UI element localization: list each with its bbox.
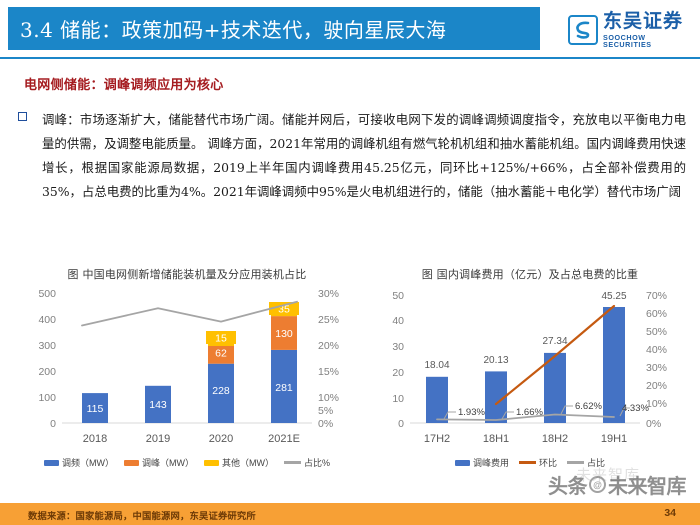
page-title: 3.4 储能：政策加码+技术迭代，驶向星辰大海	[20, 14, 446, 43]
svg-text:30: 30	[392, 341, 404, 353]
chart-title-right: 图 国内调峰费用（亿元）及占总电费的比重	[374, 266, 686, 282]
svg-text:2018: 2018	[83, 433, 107, 445]
svg-text:115: 115	[87, 403, 104, 415]
svg-text:19H1: 19H1	[601, 433, 627, 445]
svg-text:0: 0	[50, 418, 56, 430]
svg-text:20%: 20%	[318, 340, 339, 352]
legend-label: 调峰（MW）	[142, 456, 194, 469]
svg-text:0: 0	[398, 418, 404, 430]
chart-grid-side-storage: 图 中国电网侧新增储能装机量及分应用装机占比 500 400 300 200 1…	[22, 266, 352, 482]
svg-text:281: 281	[275, 382, 293, 394]
svg-text:1.93%: 1.93%	[458, 407, 485, 418]
svg-text:50: 50	[392, 290, 404, 302]
svg-text:200: 200	[38, 366, 56, 378]
svg-text:30%: 30%	[318, 288, 339, 300]
header-divider	[0, 57, 700, 59]
legend-label: 占比%	[304, 456, 330, 469]
body-paragraph: 调峰：市场逐渐扩大，储能替代市场广阔。储能并网后，可接收电网下发的调峰调频调度指…	[42, 108, 686, 204]
svg-text:500: 500	[38, 288, 56, 300]
svg-text:10%: 10%	[318, 392, 339, 404]
legend-label: 其他（MW）	[222, 456, 274, 469]
svg-text:25%: 25%	[318, 314, 339, 326]
svg-text:2019: 2019	[146, 433, 170, 445]
svg-text:2021E: 2021E	[268, 433, 300, 445]
legend-swatch-icon	[455, 460, 470, 466]
svg-text:10%: 10%	[646, 398, 667, 410]
legend-line-icon	[519, 461, 536, 464]
legend-line-icon	[284, 461, 301, 464]
svg-text:18H1: 18H1	[483, 433, 509, 445]
svg-text:0%: 0%	[318, 418, 333, 430]
svg-text:400: 400	[38, 314, 56, 326]
svg-text:60%: 60%	[646, 308, 667, 320]
legend-item-1: 环比	[519, 456, 557, 469]
body-content: 调峰：市场逐渐扩大，储能替代市场广阔。储能并网后，可接收电网下发的调峰调频调度指…	[18, 108, 686, 204]
svg-text:15: 15	[215, 333, 227, 345]
svg-text:30%: 30%	[646, 362, 667, 374]
legend-item-2: 其他（MW）	[204, 456, 274, 469]
data-source-text: 数据来源：国家能源局，中国能源网，东吴证券研究所	[28, 508, 256, 522]
svg-text:18.04: 18.04	[424, 360, 449, 371]
slide-footer: 数据来源：国家能源局，中国能源网，东吴证券研究所 34	[0, 503, 700, 525]
svg-text:10: 10	[392, 393, 404, 405]
svg-text:0%: 0%	[646, 418, 661, 430]
svg-text:1.66%: 1.66%	[516, 407, 543, 418]
svg-text:2020: 2020	[209, 433, 233, 445]
chart-legend-right: 调峰费用 环比 占比	[374, 456, 686, 469]
logo-chinese-name: 东吴证券	[603, 12, 692, 31]
chart-title-left: 图 中国电网侧新增储能装机量及分应用装机占比	[22, 266, 352, 282]
svg-text:20%: 20%	[646, 380, 667, 392]
svg-text:20.13: 20.13	[483, 355, 508, 366]
legend-line-icon	[567, 461, 584, 464]
svg-text:130: 130	[275, 328, 293, 340]
svg-text:100: 100	[38, 392, 56, 404]
legend-item-2: 占比	[567, 456, 605, 469]
svg-text:228: 228	[212, 385, 230, 397]
svg-text:300: 300	[38, 340, 56, 352]
logo-mark-icon	[568, 15, 598, 45]
legend-label: 调频（MW）	[62, 456, 114, 469]
svg-text:6.62%: 6.62%	[575, 401, 602, 412]
page-number: 34	[664, 507, 676, 519]
slide-header: 3.4 储能：政策加码+技术迭代，驶向星辰大海 东吴证券 SOOCHOW SEC…	[0, 0, 700, 62]
legend-item-3: 占比%	[284, 456, 330, 469]
legend-label: 环比	[539, 456, 557, 469]
legend-swatch-icon	[204, 460, 219, 466]
svg-text:62: 62	[215, 348, 227, 360]
svg-text:45.25: 45.25	[601, 291, 626, 302]
svg-text:40: 40	[392, 315, 404, 327]
svg-text:15%: 15%	[318, 366, 339, 378]
section-heading: 电网侧储能：调峰调频应用为核心	[24, 74, 224, 93]
square-bullet-icon	[18, 112, 27, 121]
chart-peak-shaving-cost: 图 国内调峰费用（亿元）及占总电费的比重 50 40 30 20 10 0 70…	[374, 266, 686, 482]
company-logo: 东吴证券 SOOCHOW SECURITIES	[568, 10, 692, 50]
svg-text:27.34: 27.34	[542, 336, 567, 347]
svg-text:40%: 40%	[646, 344, 667, 356]
svg-text:70%: 70%	[646, 290, 667, 302]
legend-swatch-icon	[44, 460, 59, 466]
legend-label: 调峰费用	[473, 456, 509, 469]
svg-text:18H2: 18H2	[542, 433, 568, 445]
svg-text:17H2: 17H2	[424, 433, 450, 445]
chart-legend-left: 调频（MW） 调峰（MW） 其他（MW） 占比%	[22, 456, 352, 469]
legend-item-1: 调峰（MW）	[124, 456, 194, 469]
svg-text:143: 143	[149, 399, 167, 411]
svg-text:50%: 50%	[646, 326, 667, 338]
legend-item-0: 调峰费用	[455, 456, 509, 469]
legend-item-0: 调频（MW）	[44, 456, 114, 469]
svg-text:4.33%: 4.33%	[622, 403, 649, 414]
svg-text:20: 20	[392, 367, 404, 379]
legend-swatch-icon	[124, 460, 139, 466]
chart-plot-left: 500 400 300 200 100 0 30% 25% 20% 15% 10…	[22, 284, 352, 454]
chart-plot-right: 50 40 30 20 10 0 70% 60% 50% 40% 30% 20%…	[374, 284, 686, 454]
svg-text:5%: 5%	[318, 405, 333, 417]
logo-english-name: SOOCHOW SECURITIES	[603, 34, 692, 48]
legend-label: 占比	[587, 456, 605, 469]
